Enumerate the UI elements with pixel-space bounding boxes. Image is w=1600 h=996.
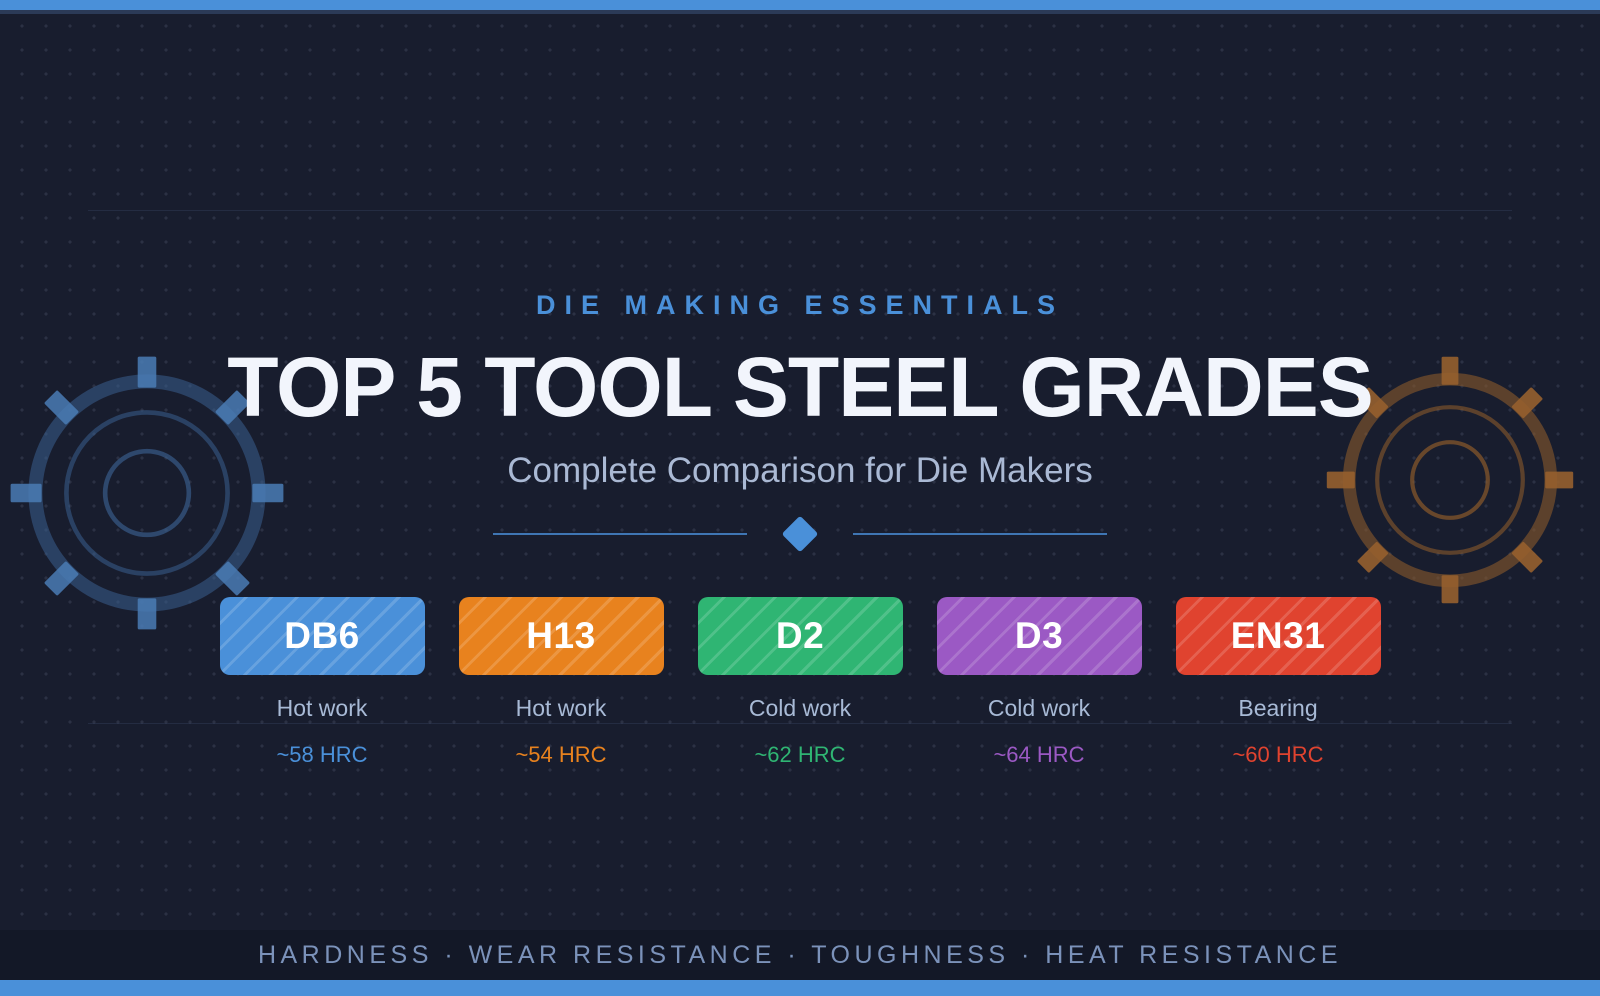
grade-badge-row: DB6Hot work~58 HRCH13Hot work~54 HRCD2Co… <box>220 597 1381 768</box>
page-subtitle: Complete Comparison for Die Makers <box>507 451 1092 491</box>
grade-card[interactable]: H13Hot work~54 HRC <box>459 597 664 768</box>
poster-canvas: DIE MAKING ESSENTIALS TOP 5 TOOL STEEL G… <box>0 0 1600 996</box>
grade-badge[interactable]: D2 <box>698 597 903 675</box>
grade-hardness-label: ~54 HRC <box>459 742 664 768</box>
grade-badge[interactable]: EN31 <box>1176 597 1381 675</box>
grade-code-label: D3 <box>1015 615 1063 657</box>
ornamental-divider <box>493 521 1107 547</box>
footer-attributes-label: HARDNESS · WEAR RESISTANCE · TOUGHNESS ·… <box>258 941 1342 970</box>
grade-card[interactable]: EN31Bearing~60 HRC <box>1176 597 1381 768</box>
grade-code-label: EN31 <box>1231 615 1326 657</box>
grade-code-label: DB6 <box>284 615 360 657</box>
grade-hardness-label: ~64 HRC <box>937 742 1142 768</box>
divider-line-left <box>493 533 747 535</box>
grade-hardness-label: ~60 HRC <box>1176 742 1381 768</box>
poster-content: DIE MAKING ESSENTIALS TOP 5 TOOL STEEL G… <box>0 0 1600 996</box>
grade-code-label: H13 <box>526 615 595 657</box>
grade-badge[interactable]: H13 <box>459 597 664 675</box>
grade-type-label: Bearing <box>1176 695 1381 722</box>
grade-type-label: Cold work <box>937 695 1142 722</box>
grade-type-label: Hot work <box>459 695 664 722</box>
grade-hardness-label: ~58 HRC <box>220 742 425 768</box>
grade-card[interactable]: D3Cold work~64 HRC <box>937 597 1142 768</box>
grade-hardness-label: ~62 HRC <box>698 742 903 768</box>
grade-code-label: D2 <box>776 615 824 657</box>
divider-line-right <box>853 533 1107 535</box>
grade-badge[interactable]: DB6 <box>220 597 425 675</box>
diamond-icon <box>782 515 819 552</box>
grade-type-label: Cold work <box>698 695 903 722</box>
grade-card[interactable]: DB6Hot work~58 HRC <box>220 597 425 768</box>
grade-badge[interactable]: D3 <box>937 597 1142 675</box>
page-title: TOP 5 TOOL STEEL GRADES <box>227 345 1373 431</box>
eyebrow-label: DIE MAKING ESSENTIALS <box>536 290 1064 321</box>
grade-type-label: Hot work <box>220 695 425 722</box>
footer-bar: HARDNESS · WEAR RESISTANCE · TOUGHNESS ·… <box>0 930 1600 980</box>
grade-card[interactable]: D2Cold work~62 HRC <box>698 597 903 768</box>
